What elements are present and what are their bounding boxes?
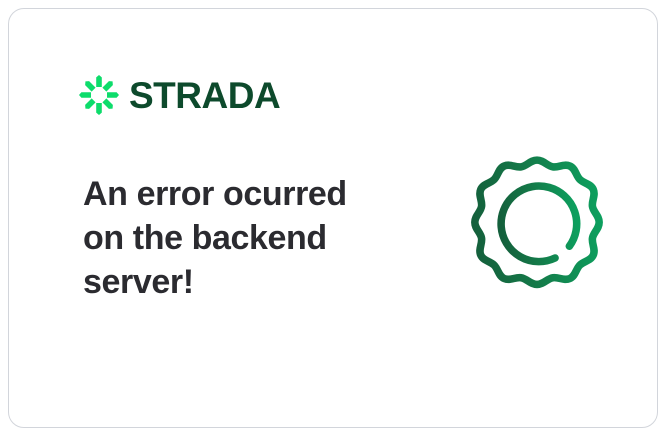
- brand-wordmark: STRADA: [129, 77, 280, 114]
- brand-lockup: STRADA: [79, 75, 280, 115]
- strada-asterisk-icon: [79, 75, 119, 115]
- error-card: STRADA An error ocurred on the backend s…: [8, 8, 658, 428]
- gear-icon: [453, 145, 621, 313]
- error-page: STRADA An error ocurred on the backend s…: [0, 0, 666, 436]
- error-message: An error ocurred on the backend server!: [83, 172, 383, 305]
